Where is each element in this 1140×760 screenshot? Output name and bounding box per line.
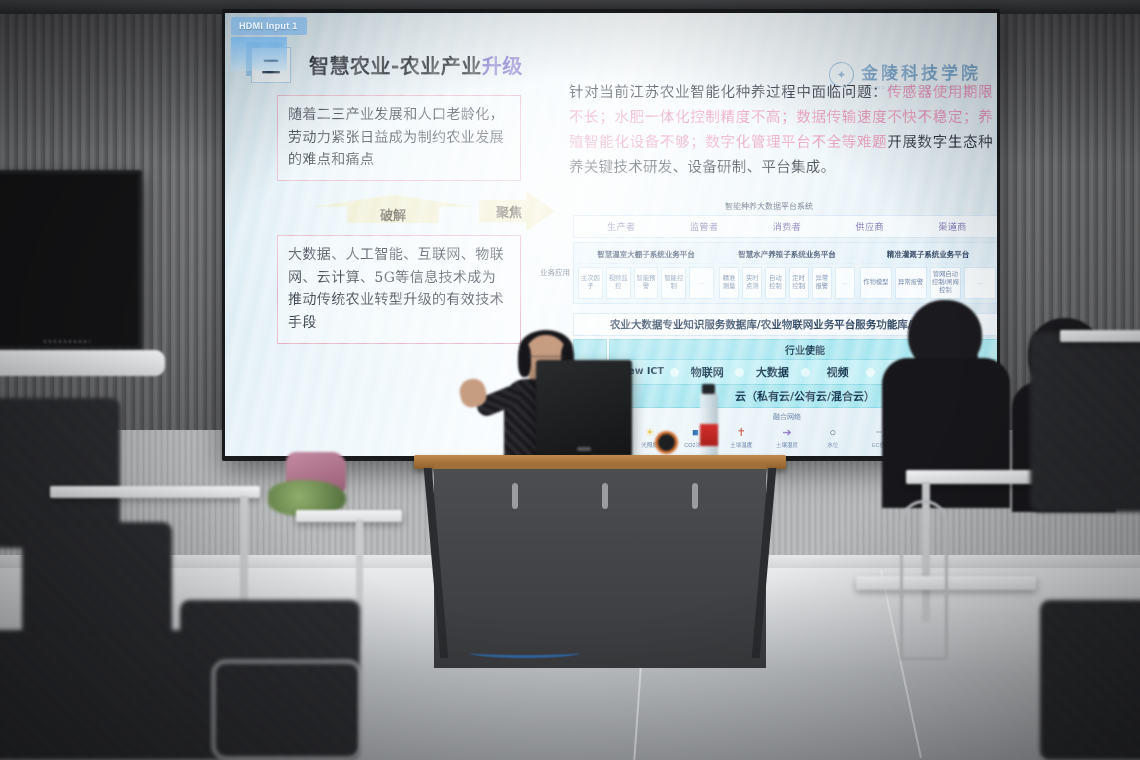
student-desk	[1060, 330, 1140, 342]
platform-title: 精准灌溉子系统业务平台	[860, 247, 996, 264]
soil-temp-icon: ✝	[718, 425, 764, 440]
chair-frame	[212, 660, 362, 760]
laptop[interactable]	[536, 360, 632, 456]
tech-item: 物联网	[681, 364, 733, 380]
platform-cell: …	[689, 267, 714, 299]
platform-cell: 自动控制	[765, 267, 785, 299]
slide-title-highlight: 升级	[482, 54, 523, 78]
layer-label-business: 业务应用	[537, 242, 573, 304]
platforms-wrapper: 智慧温室大棚子系统业务平台 主次因子 视频监控 智能预警 智能控制 …	[573, 242, 997, 304]
context-textbox-a: 随着二三产业发展和人口老龄化，劳动力紧张日益成为制约农业发展的难点和痛点	[277, 95, 521, 181]
platform-title: 智慧温室大棚子系统业务平台	[578, 247, 714, 264]
cabinet-handle[interactable]	[512, 483, 518, 509]
arrow-label-break: 破解	[311, 195, 475, 223]
handheld-microphone[interactable]	[658, 434, 675, 451]
platform-cells: 精准测量 实时点测 自动控制 定时控制 异常报警 …	[719, 264, 855, 299]
podium-panel	[434, 463, 766, 668]
stakeholder-item: 供应商	[828, 220, 911, 233]
sensor-item: ✝ 土壤温度	[718, 425, 764, 449]
stakeholder-item: 渠道商	[911, 220, 994, 233]
diagram-title: 智能种养大数据平台系统	[537, 201, 997, 212]
platform-cell: 定时控制	[789, 267, 809, 299]
cabinet-handle[interactable]	[692, 483, 698, 509]
classroom-photo: HDMI Input 1 二 智慧农业-农业产业升级 ✦ 金陵科技学院 JINL…	[0, 0, 1140, 760]
problem-statement-paragraph: 针对当前江苏农业智能化种养过程中面临问题：传感器使用期限不长；水肥一体化控制精度…	[569, 81, 993, 181]
sensor-item: ○ 水位	[810, 425, 856, 449]
chair-back[interactable]	[1030, 332, 1140, 512]
chair-back[interactable]	[0, 630, 190, 760]
platform-cell: 视频监控	[606, 267, 631, 299]
platform-cell: 管网自动控制/闸阀控制	[930, 267, 962, 299]
stakeholder-item: 生产者	[580, 220, 663, 233]
floor-cable	[470, 648, 580, 658]
torso	[882, 358, 1010, 508]
platform-cell: 精准测量	[719, 267, 739, 299]
tech-item: 大数据	[746, 364, 798, 380]
platform-cell: 异常报警	[895, 267, 927, 299]
separator-dot-icon	[866, 368, 875, 377]
soil-moisture-icon: ➔	[764, 425, 810, 440]
platform-row: 智慧温室大棚子系统业务平台 主次因子 视频监控 智能预警 智能控制 …	[573, 242, 997, 304]
separator-dot-icon	[670, 368, 679, 377]
chair-back[interactable]	[1040, 600, 1140, 760]
cabinet-handle[interactable]	[602, 483, 608, 509]
diagram-business-layer: 业务应用 智慧温室大棚子系统业务平台 主次因子 视频监控 智能预警 智能控	[537, 242, 997, 304]
platform-cell: 作物模型	[860, 267, 892, 299]
sensor-label: 水位	[810, 441, 856, 449]
slide-title-main: 智慧农业-农业产业	[309, 54, 482, 78]
water-level-icon: ○	[810, 425, 856, 440]
display-shelf	[0, 350, 165, 376]
platform-cell: 智能控制	[661, 267, 686, 299]
platform-aquaculture: 智慧水产养殖子系统业务平台 精准测量 实时点测 自动控制 定时控制 异常报警 …	[719, 247, 855, 299]
platform-cell: 实时点测	[742, 267, 762, 299]
sensor-label: 土壤温度	[718, 441, 764, 449]
sensor-label: 土壤湿度	[764, 441, 810, 449]
paragraph-lead: 针对当前江苏农业智能化种养过程中面临问题：	[569, 85, 887, 101]
hdmi-input-badge: HDMI Input 1	[231, 17, 307, 35]
platform-cell: 异常报警	[812, 267, 832, 299]
platform-cell: …	[835, 267, 855, 299]
wall-display-off[interactable]	[0, 170, 142, 350]
slide-title: 智慧农业-农业产业升级	[309, 50, 523, 79]
stakeholder-item: 消费者	[746, 220, 829, 233]
platform-greenhouse: 智慧温室大棚子系统业务平台 主次因子 视频监控 智能预警 智能控制 …	[578, 247, 714, 299]
bottle-label	[700, 424, 718, 446]
sensor-item: ➔ 土壤湿度	[764, 425, 810, 449]
bottle-cap	[702, 384, 715, 394]
platform-cells: 作物模型 异常报警 管网自动控制/闸阀控制 …	[860, 264, 996, 299]
platform-cells: 主次因子 视频监控 智能预警 智能控制 …	[578, 264, 714, 299]
platform-cell: …	[964, 267, 996, 299]
hdmi-indicator-block	[231, 37, 287, 71]
platform-cell: 主次因子	[578, 267, 603, 299]
stakeholder-item: 监管者	[663, 220, 746, 233]
chair-frame	[900, 500, 948, 660]
platform-cell: 智能预警	[634, 267, 659, 299]
student-desk	[50, 486, 260, 498]
side-desk	[296, 510, 402, 522]
separator-dot-icon	[735, 368, 744, 377]
tech-item: 视频	[812, 364, 864, 380]
separator-dot-icon	[801, 368, 810, 377]
context-textbox-b: 大数据、人工智能、互联网、物联网、云计算、5G等信息技术成为推动传统农业转型升级…	[277, 235, 521, 344]
platform-title: 智慧水产养殖子系统业务平台	[719, 247, 855, 264]
platform-irrigation: 精准灌溉子系统业务平台 作物模型 异常报警 管网自动控制/闸阀控制 …	[860, 247, 996, 299]
slide-header: 二 智慧农业-农业产业升级 ✦ 金陵科技学院 JINLING INSTITUTE…	[225, 39, 997, 85]
stakeholder-row: 生产者 监管者 消费者 供应商 渠道商	[573, 215, 997, 238]
